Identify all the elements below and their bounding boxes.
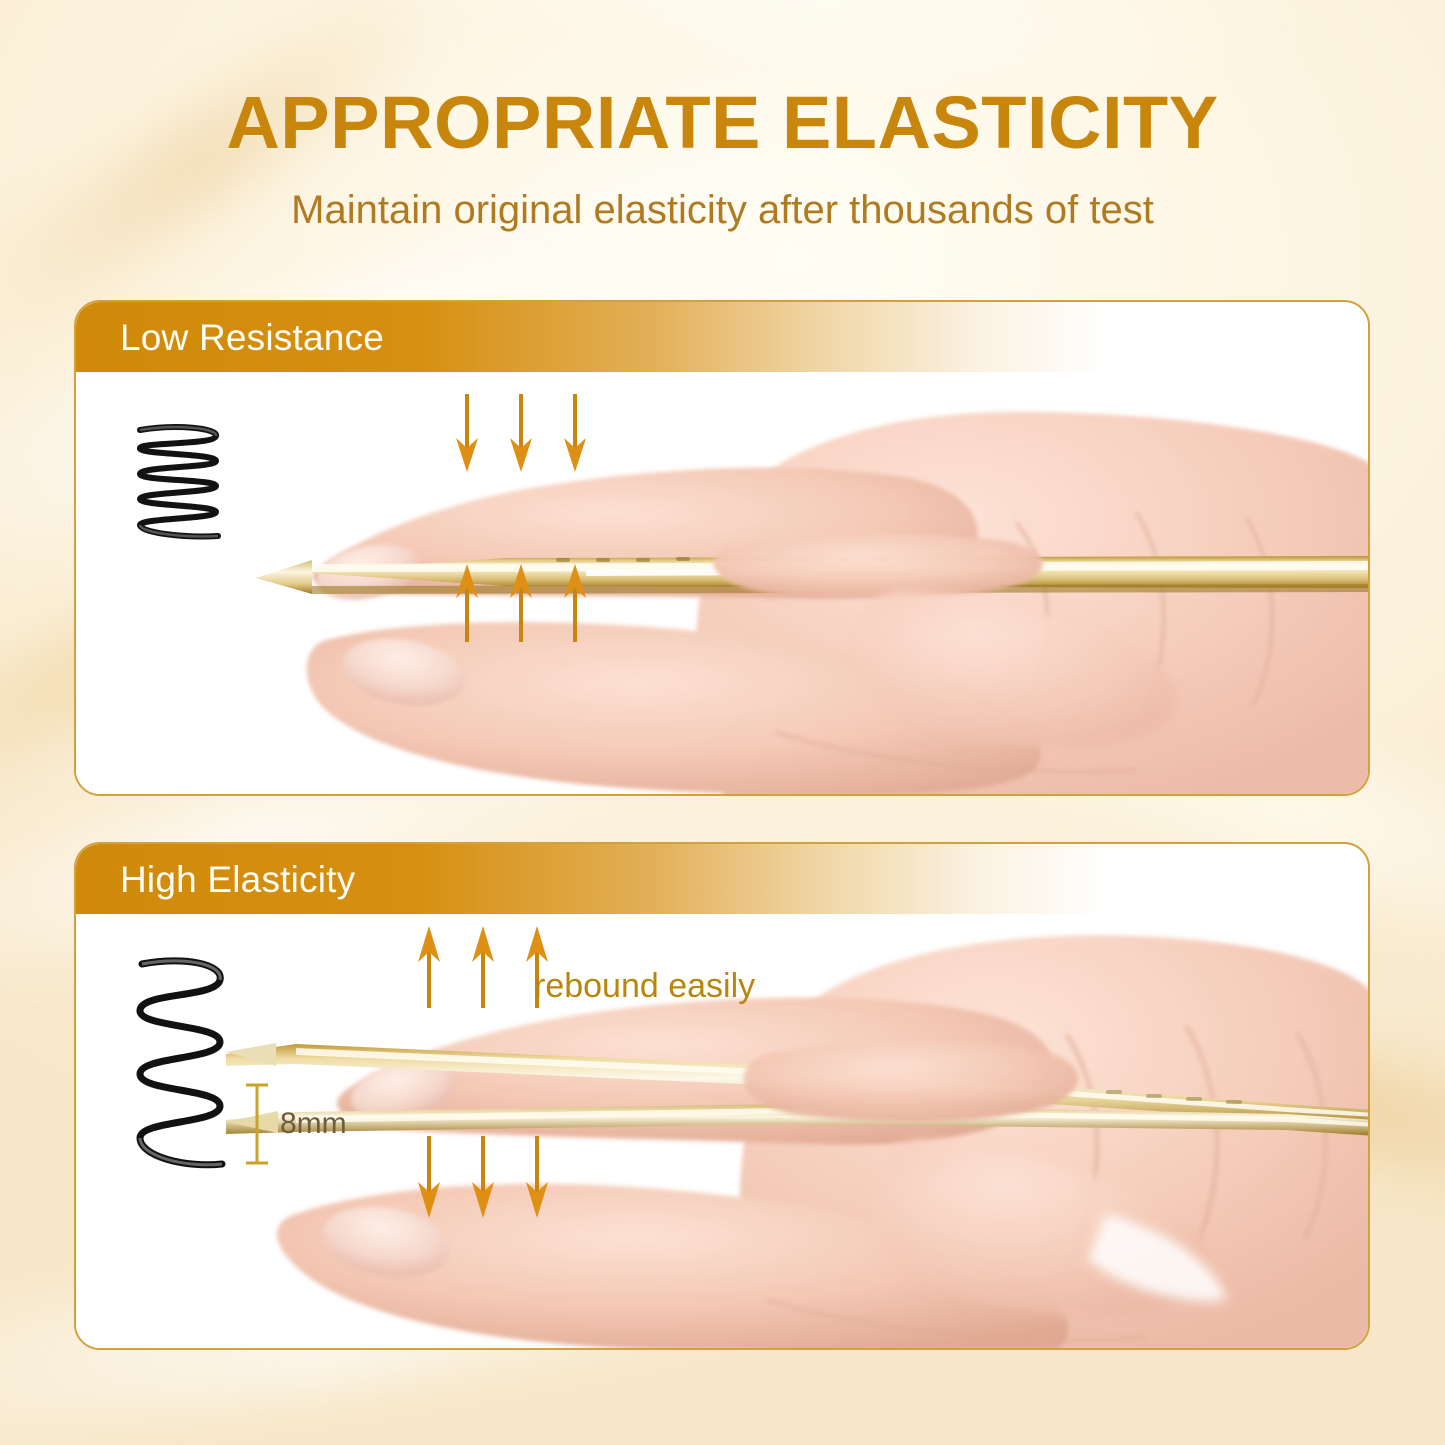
panel-title-high-elasticity: High Elasticity (76, 861, 355, 898)
arrow-down-icon (470, 1134, 496, 1220)
arrow-up-icon (454, 562, 480, 644)
photo-hand-closed-tweezers (256, 372, 1368, 794)
arrow-up-icon (470, 924, 496, 1010)
panel-header-bar-low-resistance: Low Resistance (76, 302, 1368, 372)
arrow-group-up-low-resistance (454, 562, 588, 644)
arrow-up-icon (508, 562, 534, 644)
arrow-up-icon (416, 924, 442, 1010)
arrow-down-icon (416, 1134, 442, 1220)
panel-body-high-elasticity: rebound easily 8mm (76, 914, 1368, 1348)
arrow-down-icon (562, 392, 588, 474)
dimension-8mm: 8mm (244, 1082, 347, 1166)
arrow-group-down-low-resistance (454, 392, 588, 474)
panel-low-resistance: Low Resistance (74, 300, 1370, 796)
page-subtitle: Maintain original elasticity after thous… (0, 190, 1445, 230)
rebound-easily-label: rebound easily (534, 969, 755, 1003)
arrow-up-icon (562, 562, 588, 644)
spring-icon-expanded (124, 954, 234, 1181)
page-title: APPROPRIATE ELASTICITY (0, 86, 1445, 160)
dimension-8mm-label: 8mm (280, 1109, 347, 1139)
spring-icon-compressed (126, 422, 230, 551)
panel-high-elasticity: High Elasticity (74, 842, 1370, 1350)
panel-title-low-resistance: Low Resistance (76, 319, 384, 356)
arrow-down-icon (508, 392, 534, 474)
panel-body-low-resistance (76, 372, 1368, 794)
photo-hand-open-tweezers (226, 914, 1368, 1348)
arrow-group-down-high-elasticity (416, 1134, 550, 1220)
header: APPROPRIATE ELASTICITY Maintain original… (0, 86, 1445, 230)
arrow-down-icon (524, 1134, 550, 1220)
panel-header-bar-high-elasticity: High Elasticity (76, 844, 1368, 914)
arrow-group-up-high-elasticity (416, 924, 550, 1010)
arrow-down-icon (454, 392, 480, 474)
dimension-bracket-icon (244, 1082, 270, 1166)
